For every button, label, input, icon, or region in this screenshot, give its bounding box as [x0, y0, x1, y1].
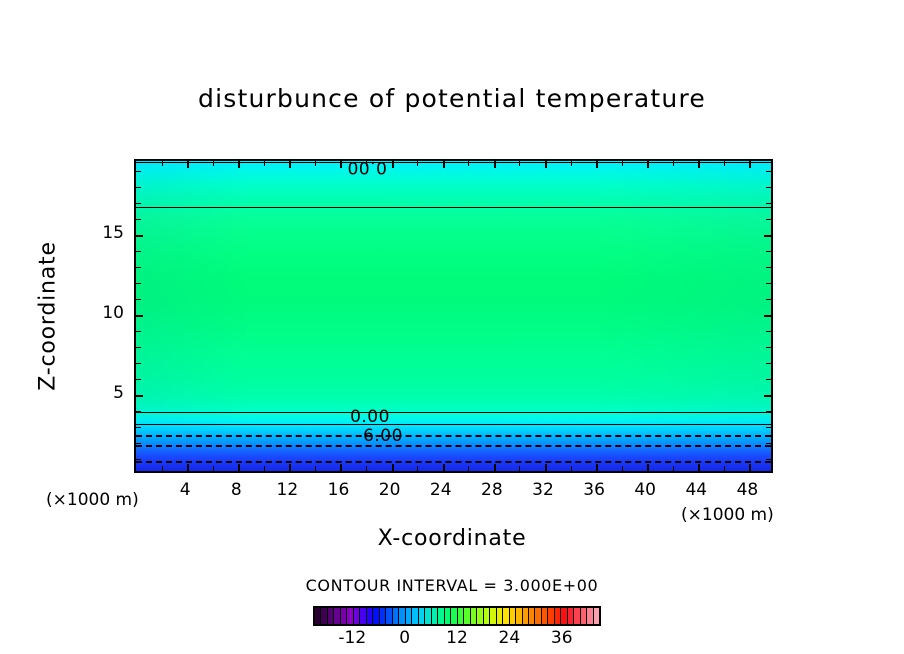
x-axis-title: X-coordinate — [0, 526, 904, 551]
contour-line--3 — [136, 424, 771, 425]
y-tick-19-left — [136, 171, 141, 172]
x-tick-10-top — [264, 161, 265, 166]
x-tick-2-bottom — [162, 466, 163, 471]
y-tick-18-left — [136, 187, 141, 188]
x-tick-42-bottom — [673, 466, 674, 471]
y-tick-label-15: 15 — [92, 223, 124, 243]
x-tick-42-top — [673, 161, 674, 166]
x-tick-label-24: 24 — [430, 480, 452, 500]
x-tick-label-4: 4 — [180, 480, 191, 500]
x-tick-48-top — [749, 161, 751, 168]
x-tick-label-48: 48 — [737, 480, 759, 500]
y-tick-6-right — [766, 379, 771, 380]
x-tick-16-bottom — [340, 464, 342, 471]
x-tick-36-bottom — [596, 464, 598, 471]
colorbar-tick-label-0: 0 — [399, 628, 410, 648]
x-tick-44-bottom — [698, 464, 700, 471]
x-tick-22-bottom — [417, 466, 418, 471]
y-tick-10-left — [136, 315, 143, 317]
colorbar-tick-label-12: 12 — [446, 628, 468, 648]
x-tick-28-top — [494, 161, 496, 168]
y-tick-10-right — [764, 315, 771, 317]
colorbar-tick-label-36: 36 — [551, 628, 573, 648]
x-tick-48-bottom — [749, 464, 751, 471]
x-tick-6-top — [213, 161, 214, 166]
y-tick-8-left — [136, 347, 141, 348]
x-tick-18-bottom — [366, 466, 367, 471]
page-title: disturbunce of potential temperature — [0, 84, 904, 113]
contour-line--3 — [136, 435, 771, 437]
x-tick-24-top — [443, 161, 445, 168]
y-tick-16-right — [766, 219, 771, 220]
x-tick-46-top — [724, 161, 725, 166]
contour-plot-area: 0.000.00-6.00 — [134, 159, 773, 473]
x-tick-46-bottom — [724, 466, 725, 471]
y-tick-19-right — [766, 171, 771, 172]
x-tick-label-16: 16 — [328, 480, 350, 500]
colorbar-cell-43 — [594, 608, 599, 624]
x-tick-20-bottom — [392, 464, 394, 471]
contour-interval-caption: CONTOUR INTERVAL = 3.000E+00 — [0, 576, 904, 595]
y-tick-14-left — [136, 251, 141, 252]
x-tick-32-bottom — [545, 464, 547, 471]
colorbar-tick-labels: -120122436 — [313, 628, 601, 652]
x-tick-12-top — [289, 161, 291, 168]
x-axis-unit-right: (×1000 m) — [681, 505, 774, 525]
x-tick-10-bottom — [264, 466, 265, 471]
x-tick-20-top — [392, 161, 394, 168]
y-tick-17-right — [766, 203, 771, 204]
x-tick-30-top — [519, 161, 520, 166]
x-tick-label-20: 20 — [379, 480, 401, 500]
x-tick-12-bottom — [289, 464, 291, 471]
contour-label-2: -6.00 — [356, 428, 403, 445]
y-tick-5-left — [136, 395, 143, 397]
y-tick-4-left — [136, 411, 141, 412]
contour-label-1: 0.00 — [350, 409, 390, 426]
y-tick-3-left — [136, 427, 141, 428]
y-tick-5-right — [764, 395, 771, 397]
x-tick-40-top — [647, 161, 649, 168]
y-tick-13-left — [136, 267, 141, 268]
y-tick-12-left — [136, 283, 141, 284]
y-tick-7-right — [766, 363, 771, 364]
x-tick-28-bottom — [494, 464, 496, 471]
y-tick-13-right — [766, 267, 771, 268]
y-tick-9-left — [136, 331, 141, 332]
x-tick-36-top — [596, 161, 598, 168]
y-tick-14-right — [766, 251, 771, 252]
contour-line-0 — [136, 207, 771, 208]
x-tick-label-36: 36 — [583, 480, 605, 500]
x-tick-8-bottom — [238, 464, 240, 471]
colorbar-tick-label--12: -12 — [338, 628, 366, 648]
x-tick-44-top — [698, 161, 700, 168]
y-tick-16-left — [136, 219, 141, 220]
y-tick-12-right — [766, 283, 771, 284]
x-tick-34-bottom — [571, 466, 572, 471]
y-tick-11-right — [766, 299, 771, 300]
y-tick-label-5: 5 — [92, 383, 124, 403]
x-tick-22-top — [417, 161, 418, 166]
colorbar — [313, 606, 601, 626]
y-tick-2-right — [766, 443, 771, 444]
y-tick-15-left — [136, 235, 143, 237]
x-tick-32-top — [545, 161, 547, 168]
y-tick-3-right — [766, 427, 771, 428]
x-tick-18-top — [366, 161, 367, 166]
x-tick-label-8: 8 — [231, 480, 242, 500]
x-tick-26-bottom — [468, 466, 469, 471]
x-tick-38-bottom — [622, 466, 623, 471]
contour-line--9 — [136, 461, 771, 463]
y-tick-4-right — [766, 411, 771, 412]
contour-line-0 — [136, 412, 771, 413]
x-tick-34-top — [571, 161, 572, 166]
x-tick-8-top — [238, 161, 240, 168]
x-tick-label-40: 40 — [634, 480, 656, 500]
y-tick-1-right — [766, 459, 771, 460]
y-tick-15-right — [764, 235, 771, 237]
x-tick-16-top — [340, 161, 342, 168]
x-tick-26-top — [468, 161, 469, 166]
colorbar-tick-label-24: 24 — [499, 628, 521, 648]
y-tick-6-left — [136, 379, 141, 380]
x-tick-24-bottom — [443, 464, 445, 471]
y-tick-1-left — [136, 459, 141, 460]
x-tick-6-bottom — [213, 466, 214, 471]
x-axis-unit-left: (×1000 m) — [46, 490, 139, 510]
contour-line--6 — [136, 445, 771, 447]
y-tick-11-left — [136, 299, 141, 300]
x-tick-2-top — [162, 161, 163, 166]
x-tick-14-bottom — [315, 466, 316, 471]
y-tick-2-left — [136, 443, 141, 444]
x-tick-label-12: 12 — [277, 480, 299, 500]
x-tick-30-bottom — [519, 466, 520, 471]
x-tick-label-44: 44 — [685, 480, 707, 500]
x-tick-4-top — [187, 161, 189, 168]
y-tick-label-10: 10 — [92, 303, 124, 323]
y-tick-8-right — [766, 347, 771, 348]
y-tick-7-left — [136, 363, 141, 364]
x-tick-label-28: 28 — [481, 480, 503, 500]
x-tick-4-bottom — [187, 464, 189, 471]
y-axis-title: Z-coordinate — [36, 241, 61, 391]
x-tick-label-32: 32 — [532, 480, 554, 500]
x-tick-40-bottom — [647, 464, 649, 471]
x-tick-38-top — [622, 161, 623, 166]
x-tick-14-top — [315, 161, 316, 166]
contour-line-0 — [136, 162, 771, 163]
y-tick-17-left — [136, 203, 141, 204]
y-tick-9-right — [766, 331, 771, 332]
y-tick-18-right — [766, 187, 771, 188]
